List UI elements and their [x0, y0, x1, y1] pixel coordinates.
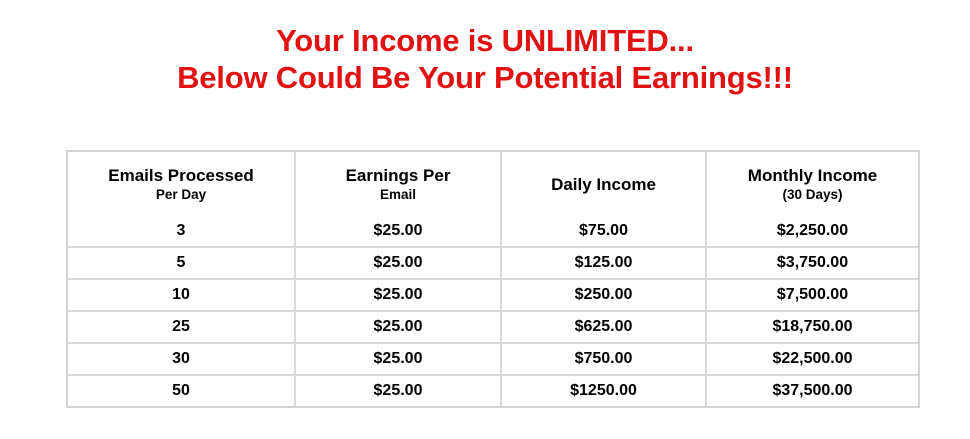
cell-daily-income: $750.00 [502, 344, 707, 376]
cell-emails-per-day: 25 [68, 312, 296, 344]
table-row: 25 $25.00 $625.00 $18,750.00 [68, 312, 918, 344]
cell-earnings-per-email: $25.00 [296, 344, 502, 376]
table-header-row: Emails Processed Per Day Earnings Per Em… [68, 152, 918, 216]
cell-daily-income: $1250.00 [502, 376, 707, 406]
cell-daily-income: $75.00 [502, 216, 707, 248]
cell-monthly-income: $3,750.00 [707, 248, 918, 280]
column-header-subtitle: Per Day [74, 186, 288, 203]
cell-emails-per-day: 3 [68, 216, 296, 248]
cell-monthly-income: $18,750.00 [707, 312, 918, 344]
cell-earnings-per-email: $25.00 [296, 376, 502, 406]
column-header-emails-processed: Emails Processed Per Day [68, 152, 296, 216]
column-header-monthly-income: Monthly Income (30 Days) [707, 152, 918, 216]
cell-daily-income: $250.00 [502, 280, 707, 312]
table-header: Emails Processed Per Day Earnings Per Em… [68, 152, 918, 216]
column-header-daily-income: Daily Income [502, 152, 707, 216]
earnings-table: Emails Processed Per Day Earnings Per Em… [66, 150, 920, 408]
column-header-title: Emails Processed [108, 166, 254, 185]
cell-earnings-per-email: $25.00 [296, 216, 502, 248]
table-row: 3 $25.00 $75.00 $2,250.00 [68, 216, 918, 248]
cell-daily-income: $625.00 [502, 312, 707, 344]
table-row: 50 $25.00 $1250.00 $37,500.00 [68, 376, 918, 406]
cell-earnings-per-email: $25.00 [296, 280, 502, 312]
cell-earnings-per-email: $25.00 [296, 248, 502, 280]
column-header-subtitle: Email [302, 186, 494, 203]
cell-emails-per-day: 10 [68, 280, 296, 312]
table-body: 3 $25.00 $75.00 $2,250.00 5 $25.00 $125.… [68, 216, 918, 406]
column-header-title: Monthly Income [748, 166, 877, 185]
cell-monthly-income: $22,500.00 [707, 344, 918, 376]
table-row: 30 $25.00 $750.00 $22,500.00 [68, 344, 918, 376]
table-row: 5 $25.00 $125.00 $3,750.00 [68, 248, 918, 280]
cell-emails-per-day: 5 [68, 248, 296, 280]
cell-monthly-income: $7,500.00 [707, 280, 918, 312]
cell-earnings-per-email: $25.00 [296, 312, 502, 344]
cell-emails-per-day: 30 [68, 344, 296, 376]
table-row: 10 $25.00 $250.00 $7,500.00 [68, 280, 918, 312]
column-header-subtitle: (30 Days) [713, 186, 912, 203]
page-headline: Your Income is UNLIMITED... Below Could … [0, 22, 970, 96]
cell-emails-per-day: 50 [68, 376, 296, 406]
column-header-earnings-per-email: Earnings Per Email [296, 152, 502, 216]
column-header-title: Earnings Per [346, 166, 451, 185]
headline-line-1: Your Income is UNLIMITED... [0, 22, 970, 59]
cell-daily-income: $125.00 [502, 248, 707, 280]
headline-line-2: Below Could Be Your Potential Earnings!!… [0, 59, 970, 96]
column-header-title: Daily Income [551, 175, 656, 194]
cell-monthly-income: $37,500.00 [707, 376, 918, 406]
cell-monthly-income: $2,250.00 [707, 216, 918, 248]
earnings-table-container: Emails Processed Per Day Earnings Per Em… [66, 150, 916, 408]
